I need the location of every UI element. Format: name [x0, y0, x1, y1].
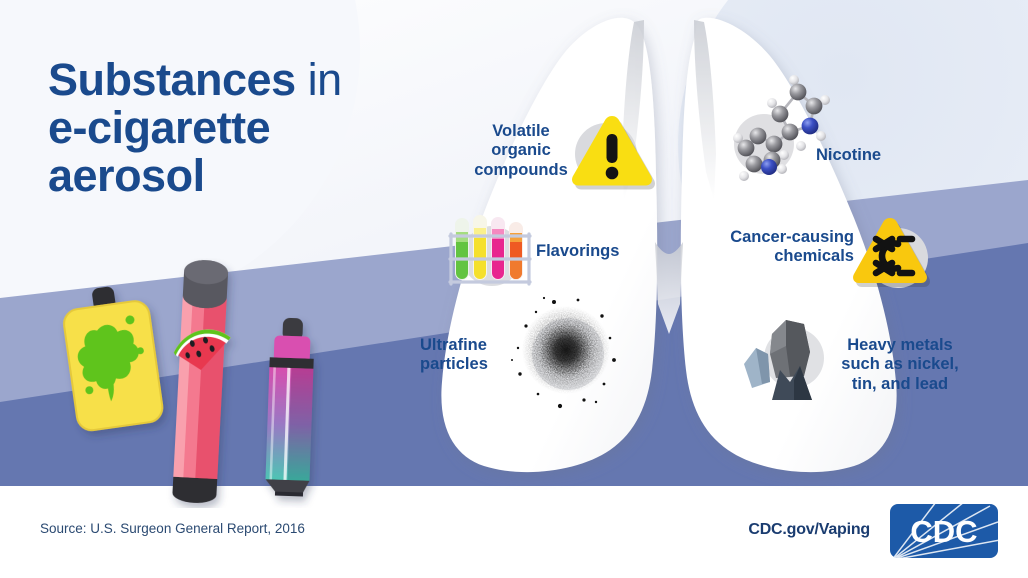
- source-citation: Source: U.S. Surgeon General Report, 201…: [40, 521, 305, 536]
- e-cigarette-devices: [40, 258, 352, 508]
- test-tube-green: [455, 218, 469, 280]
- title-line-3: aerosol: [48, 152, 448, 200]
- rocks-icon: [742, 306, 838, 402]
- heavy-line-1: Heavy metals: [828, 336, 972, 355]
- cdc-logo[interactable]: CDC: [890, 500, 1006, 562]
- title-in: in: [296, 54, 342, 105]
- label-cancer-causing-chemicals: Cancer-causing chemicals: [708, 228, 854, 267]
- test-tube-yellow: [473, 215, 487, 280]
- title-substances: Substances: [48, 54, 296, 105]
- label-volatile-organic-compounds: Volatile organic compounds: [462, 122, 580, 180]
- title-line-2: e-cigarette: [48, 104, 448, 152]
- test-tube-orange: [509, 222, 523, 280]
- test-tubes-icon: [442, 206, 538, 298]
- label-flavorings: Flavorings: [536, 242, 656, 261]
- pink-watermelon-vape: [166, 259, 235, 505]
- label-heavy-metals: Heavy metals such as nickel, tin, and le…: [828, 336, 972, 394]
- page-title: Substances in e-cigarette aerosol: [48, 56, 448, 200]
- rock-large-grey: [770, 320, 810, 378]
- rock-light-left: [744, 348, 770, 388]
- voc-line-1: Volatile: [462, 122, 580, 141]
- particle-cloud-icon: [506, 290, 628, 412]
- cancer-line-2: chemicals: [708, 247, 854, 266]
- warning-triangle-icon: [566, 108, 658, 194]
- test-tube-magenta: [491, 217, 505, 280]
- gradient-vape: [265, 317, 315, 496]
- heavy-line-2: such as nickel,: [828, 355, 972, 374]
- voc-line-3: compounds: [462, 161, 580, 180]
- carcinogen-triangle-icon: [846, 208, 938, 298]
- nicotine-molecule-icon: [724, 70, 842, 188]
- voc-line-2: organic: [462, 141, 580, 160]
- heavy-line-3: tin, and lead: [828, 375, 972, 394]
- cancer-line-1: Cancer-causing: [708, 228, 854, 247]
- title-line-1: Substances in: [48, 56, 448, 104]
- yellow-pod-vape: [60, 281, 165, 432]
- cdc-logo-text: CDC: [910, 514, 977, 549]
- cdc-vaping-url[interactable]: CDC.gov/Vaping: [748, 521, 870, 539]
- infographic-canvas: Volatile organic compounds Flavorings: [0, 0, 1028, 578]
